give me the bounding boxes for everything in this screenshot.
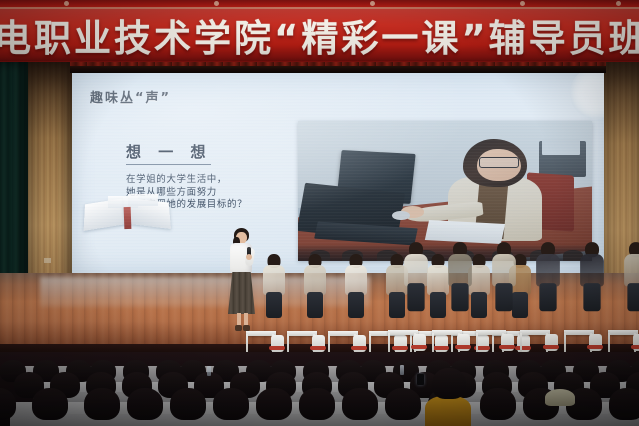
screen-top-frame [70, 62, 606, 73]
stage-student [623, 242, 639, 335]
chair-seat [392, 346, 408, 350]
student-legs [266, 292, 282, 318]
chair-seat [515, 346, 531, 350]
screen-glare [72, 73, 604, 273]
stage-student [262, 254, 286, 336]
wall-plate [44, 258, 51, 263]
banner-title: 电职业技术学院“精彩一课”辅导员班主任主题 [0, 8, 639, 62]
student-torso [580, 254, 604, 286]
student-legs [495, 283, 512, 311]
student-legs [583, 283, 600, 311]
audience-head [256, 388, 292, 420]
student-legs [430, 292, 446, 318]
banner-grommet [214, 1, 219, 6]
banner-grommet [520, 1, 525, 6]
person-yellow-shirt [425, 396, 471, 426]
stage-student [447, 242, 473, 335]
student-torso [263, 265, 285, 295]
person-beige-cap [545, 389, 575, 406]
student-torso [492, 254, 516, 286]
banner-grommet [370, 1, 375, 6]
student-torso [304, 265, 326, 295]
chair-seat [433, 346, 449, 350]
person-holding-phone [417, 374, 424, 385]
audience-head [127, 388, 163, 420]
chair-seat [455, 345, 471, 349]
banner-grommet [616, 1, 621, 6]
chair-seat [269, 346, 285, 350]
audience-head [32, 388, 68, 420]
audience-head [299, 388, 335, 420]
presenter-shoe [235, 325, 242, 331]
chair-seat [631, 345, 639, 349]
chair-seat [499, 345, 515, 349]
stage-student [491, 242, 517, 335]
student-legs [307, 292, 323, 318]
stage-student [535, 242, 561, 335]
water-bottle [207, 366, 211, 376]
auditorium-photo: 电职业技术学院“精彩一课”辅导员班主任主题 趣味丛“声” 想 一 想 在学姐的大… [0, 0, 639, 426]
audience-head [480, 388, 516, 420]
banner-grommet [64, 1, 69, 6]
stage-student [579, 242, 605, 335]
seated-audience [0, 352, 639, 426]
audience-head [609, 388, 639, 420]
chair-seat [310, 346, 326, 350]
projection-screen: 趣味丛“声” 想 一 想 在学姐的大学生活中， 她是从哪些方面努力 从而实现她的… [72, 73, 604, 273]
student-torso [404, 254, 428, 286]
student-torso [448, 254, 472, 286]
student-legs [471, 292, 487, 318]
student-torso [624, 254, 639, 286]
audience-head [170, 388, 206, 420]
chair-seat [587, 345, 603, 349]
student-legs [407, 283, 424, 311]
student-torso [536, 254, 560, 286]
audience-head [84, 388, 120, 420]
stage-student [344, 254, 368, 336]
audience-head [385, 388, 421, 420]
chair-seat [543, 345, 559, 349]
stage-student [303, 254, 327, 336]
audience-head [342, 388, 378, 420]
student-torso [427, 265, 449, 295]
overhead-banner: 电职业技术学院“精彩一课”辅导员班主任主题 [0, 0, 639, 62]
chair-seat [351, 346, 367, 350]
stage-student [403, 242, 429, 335]
chair-seat [411, 345, 427, 349]
audience-head [432, 368, 466, 399]
presenter [222, 228, 262, 336]
banner-top-strip [0, 0, 639, 7]
audience-head [213, 388, 249, 420]
presenter-skirt [228, 272, 255, 314]
water-bottle [400, 365, 404, 375]
presenter-hand [246, 254, 252, 260]
student-legs [539, 283, 556, 311]
student-legs [451, 283, 468, 311]
student-legs [627, 283, 639, 311]
student-torso [345, 265, 367, 295]
student-legs [348, 292, 364, 318]
